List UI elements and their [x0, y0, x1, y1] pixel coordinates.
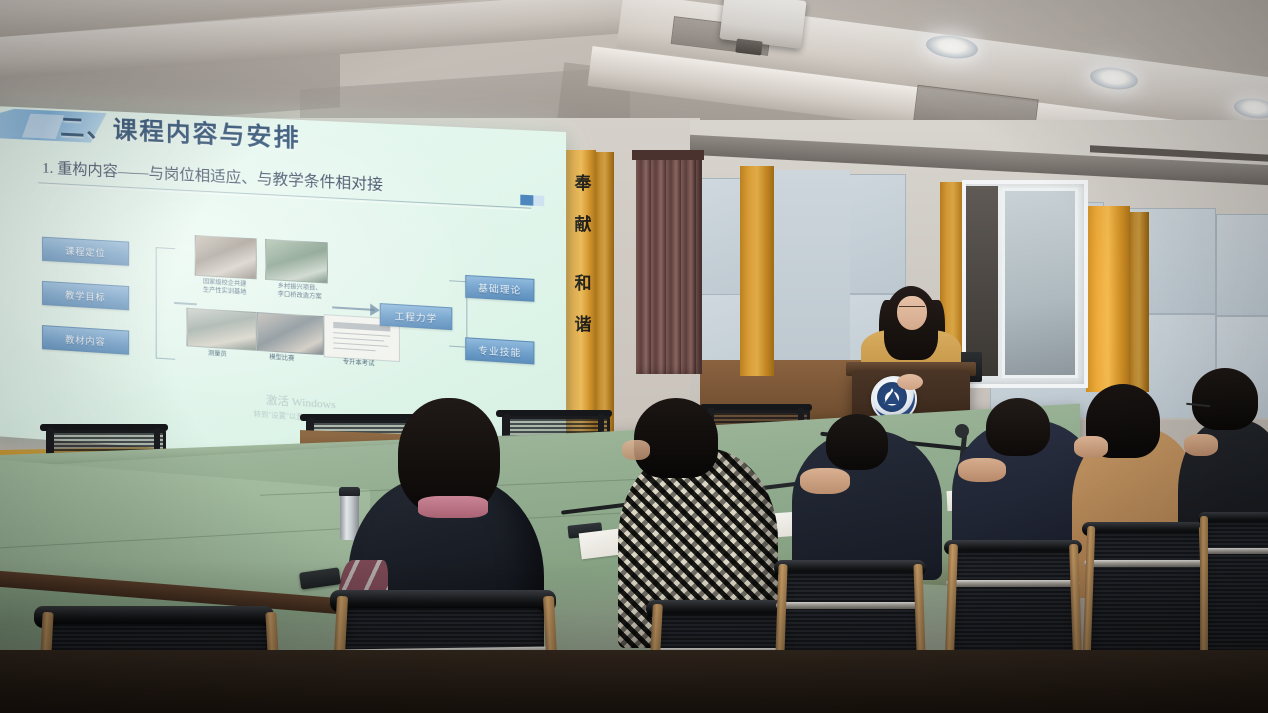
floor — [0, 650, 1268, 713]
slide-photo-caption: 乡村振兴项目、 李口桥改造方案 — [261, 282, 339, 303]
curtain-top — [632, 150, 704, 160]
slide-photo-caption: 测量员 — [189, 349, 247, 361]
attendee-hand — [1184, 434, 1218, 456]
wood-column — [1129, 212, 1149, 392]
slide-arrow-head — [370, 304, 380, 317]
attendee-hand — [1074, 436, 1108, 458]
attendee-head — [986, 398, 1050, 456]
wall-calligraphy: 奉 献 和 谐 — [572, 155, 594, 399]
projector-lens — [735, 38, 763, 55]
calligraphy-char: 谐 — [575, 310, 592, 335]
slide-box-engineering-mechanics: 工程力学 — [380, 303, 453, 330]
presenter-hands — [897, 374, 923, 390]
glasses-icon — [899, 306, 925, 313]
microphone-icon — [955, 424, 969, 438]
slide-brace-stem — [174, 302, 197, 305]
slide-box-textbook-content: 教材内容 — [42, 325, 129, 355]
classroom-scene: 奉 献 和 谐 二、课程内容与安排 1. 重构内容——与岗位相适应、与教学条件相… — [0, 0, 1268, 713]
attendee-head — [1192, 368, 1258, 430]
attendee-hand — [800, 468, 850, 494]
window-dark-opening — [966, 186, 998, 376]
wood-column — [596, 152, 614, 438]
slide-photo-surveying — [186, 308, 256, 351]
slide-box-professional-skill: 专业技能 — [465, 337, 534, 364]
slide-corner-mark — [520, 195, 544, 207]
calligraphy-char: 奉 — [575, 169, 592, 194]
attendee-hand — [622, 440, 650, 460]
slide-box-teaching-goal: 教学目标 — [42, 281, 129, 310]
presenter-face — [897, 296, 927, 330]
slide-photo-model-contest — [257, 312, 324, 355]
window-pane — [1002, 188, 1078, 378]
slide-brace-left — [156, 247, 175, 360]
watermark-line1: 激活 Windows — [266, 394, 336, 411]
attendee-head — [634, 398, 718, 478]
slide-box-basic-theory: 基础理论 — [465, 275, 534, 302]
wood-column — [740, 166, 774, 376]
window-curtain — [636, 152, 702, 374]
slide-photo-caption: 国家级校企共建 生产性实训基地 — [186, 277, 263, 298]
calligraphy-char: 和 — [575, 269, 592, 294]
attendee-collar — [418, 496, 488, 518]
thermos-cap — [339, 487, 360, 496]
slide-arrow — [332, 306, 374, 311]
slide-box-course-position: 课程定位 — [42, 237, 129, 266]
slide-photo-caption: 模型比赛 — [253, 353, 312, 365]
slide-photo-bridge — [265, 239, 328, 284]
attendee-head — [826, 414, 888, 470]
attendee-hand — [958, 458, 1006, 482]
slide-photo-factory — [195, 235, 257, 279]
wood-column — [1086, 206, 1130, 392]
slide-subtitle: 1. 重构内容——与岗位相适应、与教学条件相对接 — [42, 156, 383, 195]
calligraphy-char: 献 — [575, 210, 592, 235]
